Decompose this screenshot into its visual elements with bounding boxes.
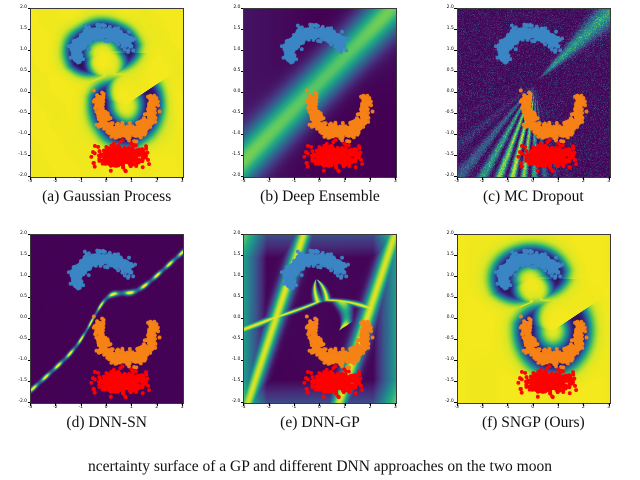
y-tick-label: 1.5 — [4, 26, 27, 31]
y-tick-mark — [454, 318, 457, 319]
y-tick-label: 1.5 — [217, 252, 240, 257]
uncertainty-surface-f — [458, 235, 610, 403]
panel-grid: 2.01.51.00.50.0-0.5-1.0-1.5-2.0-3-2-1012… — [0, 0, 640, 452]
y-tick-mark — [454, 113, 457, 114]
x-tick-mark — [131, 177, 132, 180]
y-tick-label: 1.5 — [4, 252, 27, 257]
y-tick-label: 0.0 — [431, 315, 454, 320]
x-tick-mark — [269, 403, 270, 406]
y-tick-label: -1.5 — [4, 378, 27, 383]
x-tick-mark — [345, 403, 346, 406]
x-tick-mark — [243, 403, 244, 406]
x-tick-mark — [243, 177, 244, 180]
plot-area-e — [243, 234, 397, 404]
uncertainty-surface-c — [458, 9, 610, 177]
y-tick-label: -2.0 — [4, 399, 27, 404]
y-tick-mark — [454, 381, 457, 382]
y-tick-mark — [241, 71, 244, 72]
y-tick-label: -2.0 — [217, 399, 240, 404]
y-tick-mark — [241, 134, 244, 135]
y-tick-label: 0.0 — [217, 315, 240, 320]
y-tick-label: -2.0 — [217, 173, 240, 178]
y-tick-label: -1.0 — [431, 357, 454, 362]
plot-area-f — [457, 234, 611, 404]
y-tick-mark — [454, 134, 457, 135]
plot-area-a — [30, 8, 184, 178]
y-tick-mark — [28, 8, 31, 9]
x-tick-mark — [395, 177, 396, 180]
x-tick-mark — [370, 403, 371, 406]
x-tick-mark — [583, 403, 584, 406]
y-tick-mark — [454, 234, 457, 235]
y-tick-mark — [241, 92, 244, 93]
panel-caption-f: (f) SNGP (Ours) — [427, 414, 640, 432]
panel-b: 2.01.51.00.50.0-0.5-1.0-1.5-2.0-3-2-1012… — [213, 0, 426, 226]
y-tick-mark — [28, 381, 31, 382]
y-tick-label: -1.5 — [4, 152, 27, 157]
y-tick-mark — [28, 255, 31, 256]
y-tick-mark — [28, 50, 31, 51]
x-tick-mark — [182, 403, 183, 406]
y-tick-mark — [28, 234, 31, 235]
panel-caption-e: (e) DNN-GP — [213, 414, 426, 432]
y-tick-mark — [241, 381, 244, 382]
x-tick-mark — [370, 177, 371, 180]
x-tick-mark — [157, 403, 158, 406]
y-tick-label: -1.5 — [217, 378, 240, 383]
y-tick-label: -1.0 — [4, 131, 27, 136]
y-tick-label: -0.5 — [431, 336, 454, 341]
y-tick-label: 1.0 — [431, 273, 454, 278]
y-tick-label: 1.0 — [4, 273, 27, 278]
y-tick-label: -1.5 — [431, 152, 454, 157]
x-tick-mark — [294, 403, 295, 406]
y-tick-label: 0.0 — [217, 89, 240, 94]
uncertainty-surface-d — [31, 235, 183, 403]
y-tick-label: 2.0 — [217, 231, 240, 236]
y-tick-mark — [28, 71, 31, 72]
y-tick-mark — [454, 92, 457, 93]
y-tick-mark — [454, 71, 457, 72]
y-tick-label: 1.0 — [431, 47, 454, 52]
y-tick-mark — [28, 339, 31, 340]
y-tick-label: -2.0 — [431, 399, 454, 404]
y-tick-label: 0.0 — [4, 315, 27, 320]
x-tick-mark — [558, 403, 559, 406]
y-tick-mark — [28, 318, 31, 319]
x-tick-mark — [482, 177, 483, 180]
x-tick-mark — [482, 403, 483, 406]
figure-uncertainty-surfaces: 2.01.51.00.50.0-0.5-1.0-1.5-2.0-3-2-1012… — [0, 0, 640, 480]
y-tick-mark — [241, 339, 244, 340]
y-tick-mark — [454, 339, 457, 340]
y-tick-mark — [454, 360, 457, 361]
plot-area-d — [30, 234, 184, 404]
x-tick-mark — [457, 177, 458, 180]
y-tick-label: 0.5 — [431, 68, 454, 73]
y-tick-mark — [454, 50, 457, 51]
y-tick-label: -0.5 — [217, 336, 240, 341]
y-tick-label: 0.0 — [431, 89, 454, 94]
y-tick-label: 1.5 — [431, 252, 454, 257]
y-tick-mark — [28, 29, 31, 30]
x-tick-mark — [558, 177, 559, 180]
y-tick-label: -2.0 — [431, 173, 454, 178]
panel-d: 2.01.51.00.50.0-0.5-1.0-1.5-2.0-3-2-1012… — [0, 226, 213, 452]
y-tick-mark — [28, 297, 31, 298]
y-tick-label: 0.5 — [431, 294, 454, 299]
y-tick-label: 1.5 — [431, 26, 454, 31]
x-tick-mark — [30, 177, 31, 180]
y-tick-label: 2.0 — [4, 231, 27, 236]
y-tick-label: -1.5 — [217, 152, 240, 157]
y-tick-mark — [454, 155, 457, 156]
figure-caption: ncertainty surface of a GP and different… — [0, 458, 640, 476]
y-tick-label: -0.5 — [4, 336, 27, 341]
y-tick-mark — [241, 360, 244, 361]
plot-area-c — [457, 8, 611, 178]
x-tick-mark — [30, 403, 31, 406]
x-tick-mark — [182, 177, 183, 180]
y-tick-label: -1.0 — [431, 131, 454, 136]
y-tick-mark — [241, 318, 244, 319]
y-tick-mark — [241, 297, 244, 298]
y-tick-label: 0.0 — [4, 89, 27, 94]
y-tick-mark — [454, 276, 457, 277]
panel-a: 2.01.51.00.50.0-0.5-1.0-1.5-2.0-3-2-1012… — [0, 0, 213, 226]
y-tick-mark — [241, 113, 244, 114]
y-tick-mark — [28, 155, 31, 156]
y-tick-label: -1.0 — [217, 131, 240, 136]
uncertainty-surface-b — [244, 9, 396, 177]
panel-caption-c: (c) MC Dropout — [427, 188, 640, 206]
y-tick-mark — [241, 29, 244, 30]
x-tick-mark — [507, 403, 508, 406]
y-tick-mark — [241, 276, 244, 277]
x-tick-mark — [55, 177, 56, 180]
x-tick-mark — [81, 177, 82, 180]
y-tick-label: 2.0 — [4, 5, 27, 10]
panel-e: 2.01.51.00.50.0-0.5-1.0-1.5-2.0-3-2-1012… — [213, 226, 426, 452]
y-tick-label: -0.5 — [217, 110, 240, 115]
y-tick-mark — [241, 255, 244, 256]
x-tick-mark — [106, 403, 107, 406]
x-tick-mark — [609, 177, 610, 180]
panel-f: 2.01.51.00.50.0-0.5-1.0-1.5-2.0-3-2-1012… — [427, 226, 640, 452]
uncertainty-surface-a — [31, 9, 183, 177]
y-tick-label: 0.5 — [217, 68, 240, 73]
y-tick-label: -1.0 — [217, 357, 240, 362]
y-tick-label: 0.5 — [4, 68, 27, 73]
y-tick-mark — [28, 134, 31, 135]
x-tick-mark — [106, 177, 107, 180]
x-tick-mark — [457, 403, 458, 406]
y-tick-label: 0.5 — [4, 294, 27, 299]
y-tick-label: 1.0 — [4, 47, 27, 52]
y-tick-mark — [241, 234, 244, 235]
panel-caption-b: (b) Deep Ensemble — [213, 188, 426, 206]
y-tick-label: 2.0 — [217, 5, 240, 10]
y-tick-label: 1.5 — [217, 26, 240, 31]
y-tick-label: 2.0 — [431, 231, 454, 236]
y-tick-mark — [454, 297, 457, 298]
x-tick-mark — [583, 177, 584, 180]
y-tick-label: 0.5 — [217, 294, 240, 299]
y-tick-mark — [28, 113, 31, 114]
y-tick-mark — [454, 29, 457, 30]
x-tick-mark — [294, 177, 295, 180]
x-tick-mark — [345, 177, 346, 180]
panel-caption-a: (a) Gaussian Process — [0, 188, 213, 206]
x-tick-mark — [533, 177, 534, 180]
y-tick-mark — [241, 155, 244, 156]
y-tick-mark — [241, 50, 244, 51]
panel-caption-d: (d) DNN-SN — [0, 414, 213, 432]
x-tick-mark — [319, 177, 320, 180]
y-tick-label: -0.5 — [431, 110, 454, 115]
y-tick-mark — [454, 8, 457, 9]
x-tick-mark — [395, 403, 396, 406]
figure-caption-text: ncertainty surface of a GP and different… — [88, 458, 552, 475]
uncertainty-surface-e — [244, 235, 396, 403]
x-tick-mark — [81, 403, 82, 406]
y-tick-label: 2.0 — [431, 5, 454, 10]
y-tick-label: -0.5 — [4, 110, 27, 115]
y-tick-label: 1.0 — [217, 47, 240, 52]
x-tick-mark — [319, 403, 320, 406]
y-tick-label: -2.0 — [4, 173, 27, 178]
y-tick-label: 1.0 — [217, 273, 240, 278]
y-tick-mark — [28, 276, 31, 277]
x-tick-mark — [131, 403, 132, 406]
x-tick-mark — [609, 403, 610, 406]
panel-c: 2.01.51.00.50.0-0.5-1.0-1.5-2.0-3-2-1012… — [427, 0, 640, 226]
y-tick-mark — [454, 255, 457, 256]
x-tick-mark — [55, 403, 56, 406]
x-tick-mark — [269, 177, 270, 180]
x-tick-mark — [507, 177, 508, 180]
y-tick-mark — [28, 360, 31, 361]
y-tick-label: -1.0 — [4, 357, 27, 362]
y-tick-label: -1.5 — [431, 378, 454, 383]
y-tick-mark — [241, 8, 244, 9]
x-tick-mark — [157, 177, 158, 180]
plot-area-b — [243, 8, 397, 178]
y-tick-mark — [28, 92, 31, 93]
x-tick-mark — [533, 403, 534, 406]
